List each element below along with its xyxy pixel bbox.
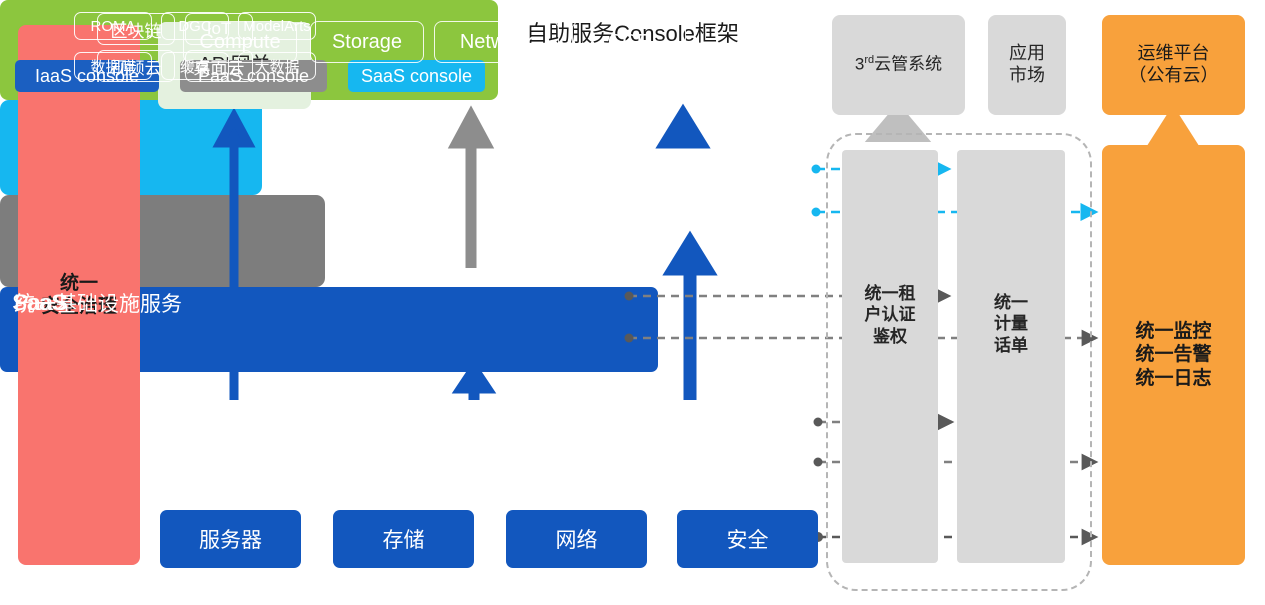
monitoring-line3: 统一日志 [1135,367,1211,390]
metering-label: 统一 计量 话单 [957,292,1065,356]
infra-chip-network[interactable]: Network [434,21,559,63]
third-cloud-superscript: rd [864,54,874,66]
paas-chip-0-label: ROMA [91,18,136,35]
tenant-auth-line3: 鉴权 [842,326,938,347]
metering-line2: 计量 [957,313,1065,334]
monitoring-line1: 统一监控 [1135,320,1211,343]
tenant-auth-column [842,150,938,563]
app-market-box: 应用 市场 [988,15,1066,115]
ops-platform-line2: （公有云） [1129,65,1219,87]
hardware-box-network[interactable]: 网络 [506,510,647,568]
third-cloud-suffix: 云管系统 [874,55,942,74]
hardware-box-storage[interactable]: 存储 [333,510,474,568]
third-cloud-prefix: 3 [855,55,864,74]
infra-chip-storage[interactable]: Storage [310,21,424,63]
infra-chip-cce[interactable]: CCE [572,21,686,63]
app-market-line2: 市场 [1009,65,1045,87]
app-market-line1: 应用 [1009,43,1045,65]
third-party-cloud-mgmt-box: 3rd云管系统 [832,15,965,115]
infra-chip-1-label: Storage [332,31,402,54]
tenant-auth-line2: 户认证 [842,304,938,325]
arrow-infra-to-paas [462,370,486,400]
metering-line3: 话单 [957,335,1065,356]
arrow-monitor-to-ops [1159,118,1187,145]
arrow-saas-to-console [667,116,699,145]
infra-chip-compute[interactable]: Compute [183,21,297,63]
infra-chip-2-label: Network [460,31,533,54]
paas-chip-database[interactable]: 数据库 [74,52,152,80]
hardware-box-server[interactable]: 服务器 [160,510,301,568]
paas-chip-3-label: 数据库 [90,56,135,77]
ops-platform-line1: 运维平台 [1129,43,1219,65]
infra-chip-3-label: CCE [608,31,650,54]
infra-chip-0-label: Compute [199,31,280,54]
arrow-infra-to-saas [674,243,706,400]
architecture-diagram: 统一租 户认证 鉴权 统一 计量 话单 统一 安全治理 API网关 自助服务Co… [0,0,1265,605]
arrow-paas-to-console [457,117,485,268]
paas-chip-roma[interactable]: ROMA [74,12,152,40]
hardware-2-label: 网络 [556,524,598,554]
tenant-auth-line1: 统一租 [842,283,938,304]
hardware-3-label: 安全 [727,524,769,554]
metering-line1: 统一 [957,292,1065,313]
ops-platform-box: 运维平台 （公有云） [1102,15,1245,115]
monitoring-line2: 统一告警 [1135,343,1211,366]
unified-monitoring-box: 统一监控 统一告警 统一日志 [1102,145,1245,565]
tenant-auth-label: 统一租 户认证 鉴权 [842,283,938,347]
hardware-0-label: 服务器 [199,524,262,554]
saas-console-label: SaaS console [361,66,472,87]
hardware-box-security[interactable]: 安全 [677,510,818,568]
hardware-1-label: 存储 [383,524,425,554]
arrow-shared-to-3rd-cloud [882,115,914,134]
metering-column [957,150,1065,563]
infrastructure-label: 统一基础设施服务 [14,288,182,318]
saas-console-button[interactable]: SaaS console [348,60,485,92]
